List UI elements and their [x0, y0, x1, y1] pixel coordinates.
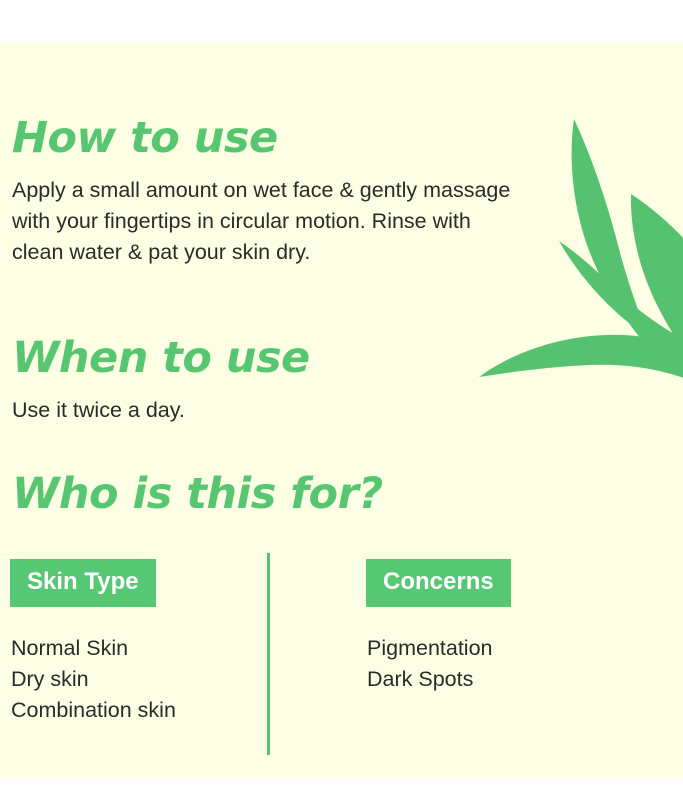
section-body-when-to-use: Use it twice a day.: [12, 395, 512, 426]
section-who-is-this-for: Who is this for?: [12, 473, 383, 517]
section-heading-how-to-use: How to use: [12, 117, 512, 161]
list-item: Dry skin: [11, 664, 260, 695]
list-concerns: Pigmentation Dark Spots: [366, 633, 616, 695]
list-item: Normal Skin: [11, 633, 260, 664]
badge-concerns: Concerns: [366, 559, 511, 607]
list-item: Pigmentation: [367, 633, 616, 664]
audience-columns: Skin Type Normal Skin Dry skin Combinati…: [0, 559, 683, 769]
cream-panel: How to use Apply a small amount on wet f…: [0, 43, 683, 777]
section-how-to-use: How to use Apply a small amount on wet f…: [12, 117, 512, 268]
section-body-how-to-use: Apply a small amount on wet face & gentl…: [12, 175, 512, 268]
list-item: Combination skin: [11, 695, 260, 726]
column-skin-type: Skin Type Normal Skin Dry skin Combinati…: [10, 559, 260, 726]
section-heading-when-to-use: When to use: [12, 337, 512, 381]
list-skin-type: Normal Skin Dry skin Combination skin: [10, 633, 260, 726]
badge-skin-type: Skin Type: [10, 559, 156, 607]
list-item: Dark Spots: [367, 664, 616, 695]
section-heading-who-is-this-for: Who is this for?: [12, 473, 383, 517]
product-info-panel: How to use Apply a small amount on wet f…: [0, 0, 683, 800]
section-when-to-use: When to use Use it twice a day.: [12, 337, 512, 426]
column-concerns: Concerns Pigmentation Dark Spots: [366, 559, 616, 695]
